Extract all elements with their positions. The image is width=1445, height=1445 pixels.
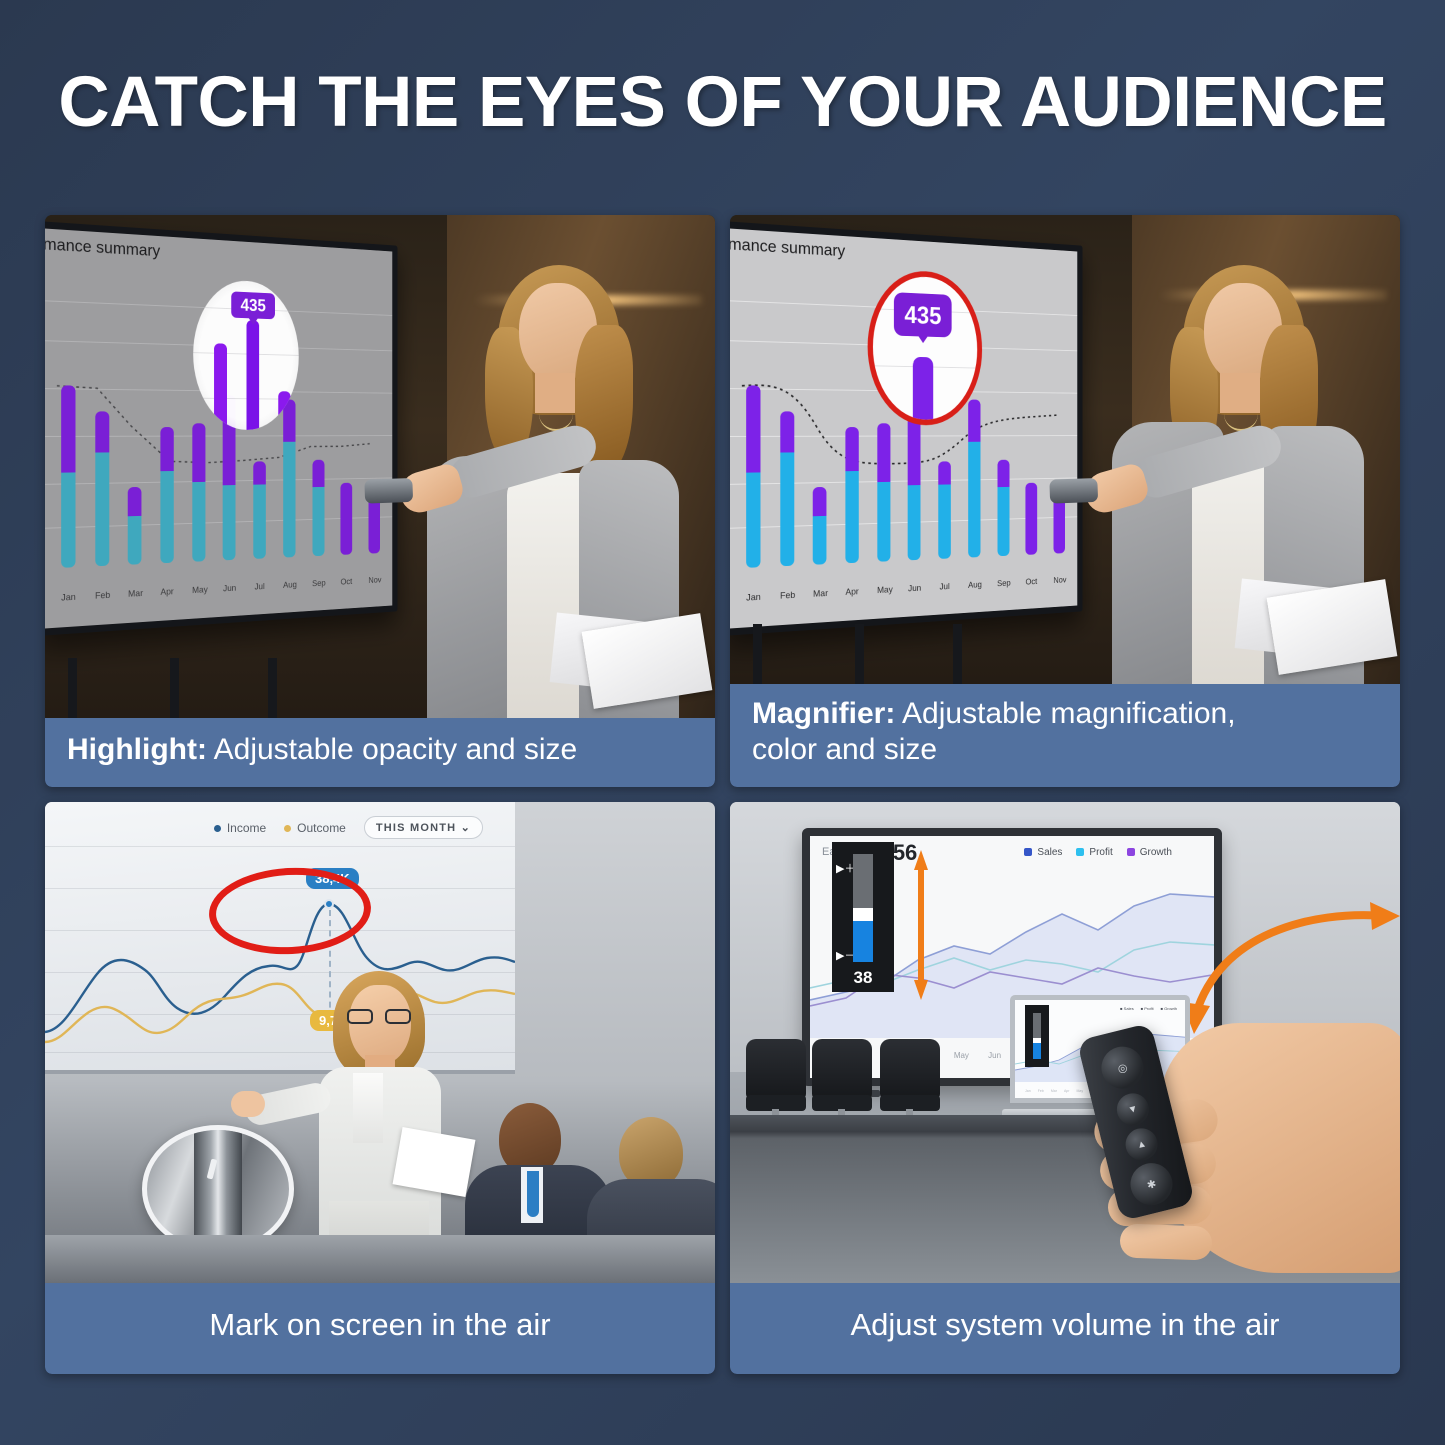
legend-label-sales: Sales xyxy=(1037,847,1062,858)
remote-up-arrow-icon: ▲ xyxy=(1122,1125,1161,1164)
laptop-volume-osd xyxy=(1025,1005,1049,1067)
legend-swatch-sales xyxy=(1024,848,1032,856)
volume-osd: ▶＋ ▶－ 38 xyxy=(832,842,894,992)
range-select-dropdown[interactable]: THIS MONTH ⌄ xyxy=(364,816,483,839)
legend-dot-income xyxy=(214,825,221,832)
display-screen-2: ormance summary xyxy=(730,228,1077,628)
value-tooltip-1: 435 xyxy=(231,291,275,319)
remote-power-icon: ◎ xyxy=(1097,1043,1148,1094)
legend-item-profit: Profit xyxy=(1076,847,1112,858)
volume-fill xyxy=(853,921,873,962)
caption-magnifier: Magnifier: Adjustable magnification, col… xyxy=(730,684,1400,787)
panel-magnifier: ormance summary xyxy=(730,215,1400,787)
caption-magnifier-text-line2: color and size xyxy=(752,733,937,766)
month-axis-1: JanFebMarAprMayJunJulAugSepOctNov xyxy=(61,575,380,603)
presentation-display-1: ormance summary xyxy=(45,221,398,636)
volume-slider[interactable] xyxy=(853,854,873,962)
user-hand: ◎ ▼ ▲ ✱ xyxy=(1080,973,1400,1273)
stylus-body xyxy=(194,1130,242,1248)
meeting-table xyxy=(45,1235,715,1283)
legend-item-growth: Growth xyxy=(1127,847,1172,858)
mark-photo: Income Outcome THIS MONTH ⌄ xyxy=(45,802,715,1283)
legend-swatch-growth xyxy=(1127,848,1135,856)
volume-value: 38 xyxy=(854,969,873,986)
caption-magnifier-label: Magnifier: xyxy=(752,697,895,730)
presentation-display-2: ormance summary xyxy=(730,221,1083,636)
panel-highlight: ormance summary xyxy=(45,215,715,787)
legend-swatch-profit xyxy=(1076,848,1084,856)
caption-highlight-label: Highlight: xyxy=(67,733,207,766)
presenter-figure-2 xyxy=(1100,215,1400,684)
caption-highlight: Highlight: Adjustable opacity and size xyxy=(45,718,715,787)
chart-title-1: ormance summary xyxy=(45,233,160,261)
display-stand-1 xyxy=(60,650,310,718)
remote-laser-icon: ✱ xyxy=(1126,1159,1177,1210)
pen-tip-zoom-inset xyxy=(142,1125,294,1253)
highlight-spotlight[interactable]: 435 xyxy=(193,278,299,430)
range-select-label: THIS MONTH xyxy=(376,822,456,834)
magnifier-photo: ormance summary xyxy=(730,215,1400,684)
month-axis-2: JanFebMarAprMayJunJulAugSepOctNov xyxy=(746,575,1065,603)
legend-label-growth: Growth xyxy=(1140,847,1172,858)
presenter-remote-2[interactable] xyxy=(1049,478,1098,504)
panel-mark-on-screen: Income Outcome THIS MONTH ⌄ xyxy=(45,802,715,1374)
display-legend: Sales Profit Growth xyxy=(1024,847,1172,858)
caption-highlight-text: Adjustable opacity and size xyxy=(207,733,577,766)
caption-magnifier-text: Adjustable magnification, xyxy=(895,697,1235,730)
legend-label-profit: Profit xyxy=(1089,847,1112,858)
caption-adjust-volume: Adjust system volume in the air xyxy=(730,1283,1400,1374)
legend-item-outcome: Outcome xyxy=(284,821,346,835)
chart-title-2: ormance summary xyxy=(730,233,845,261)
page-title: CATCH THE EYES OF YOUR AUDIENCE xyxy=(0,62,1445,143)
legend-item-income: Income xyxy=(214,821,266,835)
legend-label-outcome: Outcome xyxy=(297,821,346,835)
volume-knob xyxy=(853,908,873,921)
presenter-remote-1[interactable] xyxy=(364,478,413,504)
display-screen-1: ormance summary xyxy=(45,228,392,628)
legend-item-sales: Sales xyxy=(1024,847,1062,858)
whiteboard-legend: Income Outcome THIS MONTH ⌄ xyxy=(214,816,483,839)
display-stand-2 xyxy=(745,616,995,684)
glasses-icon xyxy=(347,1009,413,1024)
magnifier-lens[interactable]: 435 xyxy=(868,268,982,425)
value-tooltip-2: 435 xyxy=(894,292,952,337)
feature-grid: ormance summary xyxy=(45,215,1400,1365)
remote-down-arrow-icon: ▼ xyxy=(1113,1090,1152,1129)
presenter-figure-1 xyxy=(415,215,715,718)
chevron-down-icon: ⌄ xyxy=(461,822,471,834)
caption-mark-on-screen: Mark on screen in the air xyxy=(45,1283,715,1374)
legend-dot-outcome xyxy=(284,825,291,832)
panel-adjust-volume: Earnings $3,256 Sales Profit Growth JanF… xyxy=(730,802,1400,1374)
volume-photo: Earnings $3,256 Sales Profit Growth JanF… xyxy=(730,802,1400,1283)
volume-direction-arrow xyxy=(914,850,928,1000)
legend-label-income: Income xyxy=(227,821,266,835)
presenter-hand-3 xyxy=(231,1091,265,1117)
highlight-photo: ormance summary xyxy=(45,215,715,718)
